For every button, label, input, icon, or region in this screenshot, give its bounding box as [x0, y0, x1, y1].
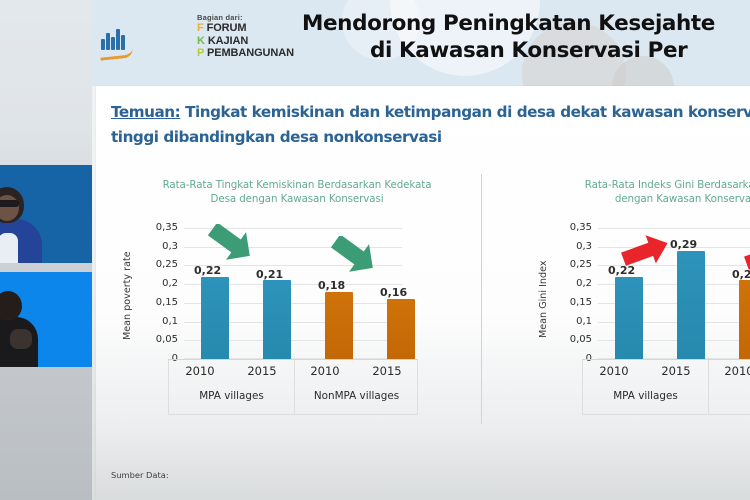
gini-chart-title: Rata-Rata Indeks Gini Berdasarkan Kede d…	[494, 178, 750, 206]
finding-line-2: tinggi dibandingkan desa nonkonservasi	[111, 125, 750, 150]
bar-value-mpa-2010: 0,22	[194, 264, 221, 277]
x-year: 2015	[356, 364, 418, 378]
bar-value-nonmpa-2015: 0,16	[380, 286, 407, 299]
video-participant-rail	[0, 0, 92, 500]
y-tick: 0,3	[556, 242, 592, 252]
finding-text-1: Tingkat kemiskinan dan ketimpangan di de…	[180, 103, 750, 121]
y-tick: 0,2	[142, 279, 178, 289]
x-year: 2010	[294, 364, 356, 378]
gini-chart: Rata-Rata Indeks Gini Berdasarkan Kede d…	[494, 178, 750, 440]
slide-title-line-1: Mendorong Peningkatan Kesejahte	[302, 10, 750, 37]
partner-row-pembangunan: P PEMBANGUNAN	[197, 47, 294, 60]
bar-mpa-2010[interactable]	[615, 277, 643, 359]
y-tick: 0,2	[556, 279, 592, 289]
partner-initial-f: F	[197, 22, 204, 34]
down-arrow-nonmpa-icon	[329, 236, 381, 274]
bar-nonmpa-2015[interactable]	[387, 299, 415, 359]
x-year: 2010	[583, 364, 645, 378]
partner-credit: Bagian dari: F FORUM K KAJIAN P PEMBANGU…	[197, 13, 294, 60]
gini-x-axis: 2010 2015 2010 MPA villages NonMPA	[582, 359, 750, 415]
poverty-bars: 0,22 0,21 0,18 0,16	[184, 228, 402, 359]
x-year: 2010	[169, 364, 231, 378]
down-arrow-mpa-icon	[206, 224, 258, 262]
source-label: Sumber Data:	[111, 470, 169, 480]
poverty-x-years: 2010 2015 2010 2015	[169, 364, 417, 388]
y-tick: 0,15	[556, 298, 592, 308]
y-tick: 0,05	[556, 335, 592, 345]
x-year: 2015	[645, 364, 707, 378]
gini-y-axis-label: Mean Gini Index	[538, 261, 549, 339]
gini-chart-title-line-2: dengan Kawasan Konservasi	[528, 192, 750, 206]
partner-word-pembangunan: PEMBANGUNAN	[207, 47, 294, 59]
bar-value-mpa-2015: 0,21	[256, 268, 283, 281]
participant-collar	[0, 233, 18, 263]
x-group-nonmpa: NonMPA villages	[294, 390, 419, 402]
gini-x-years: 2010 2015 2010	[583, 364, 750, 388]
partner-word-forum: FORUM	[207, 22, 247, 34]
poverty-chart-title-line-1: Rata-Rata Tingkat Kemiskinan Berdasarkan…	[118, 178, 476, 192]
slide-header-band: smeru RESEARCH INSTITUTE Bagian dari: F …	[92, 0, 750, 86]
poverty-chart: Rata-Rata Tingkat Kemiskinan Berdasarkan…	[118, 178, 476, 440]
x-year: 2010	[708, 364, 750, 378]
partner-row-forum: F FORUM	[197, 22, 294, 35]
poverty-y-axis-label: Mean poverty rate	[122, 251, 133, 340]
up-arrow-nonmpa-icon	[743, 238, 750, 272]
poverty-x-groups: MPA villages NonMPA villages	[169, 390, 417, 412]
participant-video-tile-1[interactable]	[0, 165, 92, 263]
y-tick: 0,35	[142, 223, 178, 233]
smeru-logo: smeru RESEARCH INSTITUTE	[92, 30, 138, 68]
y-tick: 0,25	[142, 260, 178, 270]
poverty-plot-area: Mean poverty rate 0,35 0,3 0,25 0,2 0,15…	[118, 228, 476, 440]
participant-video-tile-2[interactable]	[0, 272, 92, 367]
bar-value-nonmpa-2010: 0,18	[318, 279, 345, 292]
gini-bars: 0,22 0,29 0,21	[598, 228, 750, 359]
poverty-chart-title-line-2: Desa dengan Kawasan Konservasi	[118, 192, 476, 206]
chart-divider	[481, 174, 482, 424]
participant-hand	[10, 329, 32, 349]
x-year: 2015	[231, 364, 293, 378]
gini-plot-area: Mean Gini Index 0,35 0,3 0,25 0,2 0,15 0…	[494, 228, 750, 440]
y-tick: 0,1	[556, 317, 592, 327]
bar-value-mpa-2015: 0,29	[670, 238, 697, 251]
bar-mpa-2010[interactable]	[201, 277, 229, 359]
x-group-mpa: MPA villages	[169, 390, 294, 402]
x-group-nonmpa: NonMPA	[708, 390, 750, 402]
y-tick: 0,1	[142, 317, 178, 327]
slide-content-card: Temuan: Tingkat kemiskinan dan ketimpang…	[96, 86, 750, 500]
partner-initial-k: K	[197, 35, 205, 47]
partner-label: Bagian dari:	[197, 13, 294, 22]
bar-mpa-2015[interactable]	[677, 251, 705, 360]
y-tick: 0,05	[142, 335, 178, 345]
gini-x-groups: MPA villages NonMPA	[583, 390, 750, 412]
slide-title: Mendorong Peningkatan Kesejahte di Kawas…	[302, 10, 750, 64]
y-tick: 0,15	[142, 298, 178, 308]
y-tick: 0,3	[142, 242, 178, 252]
up-arrow-mpa-icon	[620, 234, 672, 268]
y-tick: 0,25	[556, 260, 592, 270]
bar-nonmpa-2010[interactable]	[325, 292, 353, 359]
poverty-x-axis: 2010 2015 2010 2015 MPA villages NonMPA …	[168, 359, 418, 415]
finding-label: Temuan:	[111, 103, 180, 121]
gini-chart-title-line-1: Rata-Rata Indeks Gini Berdasarkan Kede	[528, 178, 750, 192]
partner-initial-p: P	[197, 47, 204, 59]
y-tick: 0,35	[556, 223, 592, 233]
poverty-chart-title: Rata-Rata Tingkat Kemiskinan Berdasarkan…	[118, 178, 476, 206]
bar-mpa-2015[interactable]	[263, 280, 291, 359]
partner-word-kajian: KAJIAN	[208, 35, 248, 47]
slide-title-line-2: di Kawasan Konservasi Per	[302, 37, 750, 64]
finding-statement: Temuan: Tingkat kemiskinan dan ketimpang…	[111, 100, 750, 150]
finding-line-1: Temuan: Tingkat kemiskinan dan ketimpang…	[111, 100, 750, 125]
participant-glasses	[0, 200, 19, 207]
presentation-slide: smeru RESEARCH INSTITUTE Bagian dari: F …	[92, 0, 750, 500]
x-group-mpa: MPA villages	[583, 390, 708, 402]
bar-nonmpa-2010[interactable]	[739, 280, 750, 359]
bar-chart-swoosh-icon	[100, 29, 134, 59]
partner-row-kajian: K KAJIAN	[197, 35, 294, 48]
